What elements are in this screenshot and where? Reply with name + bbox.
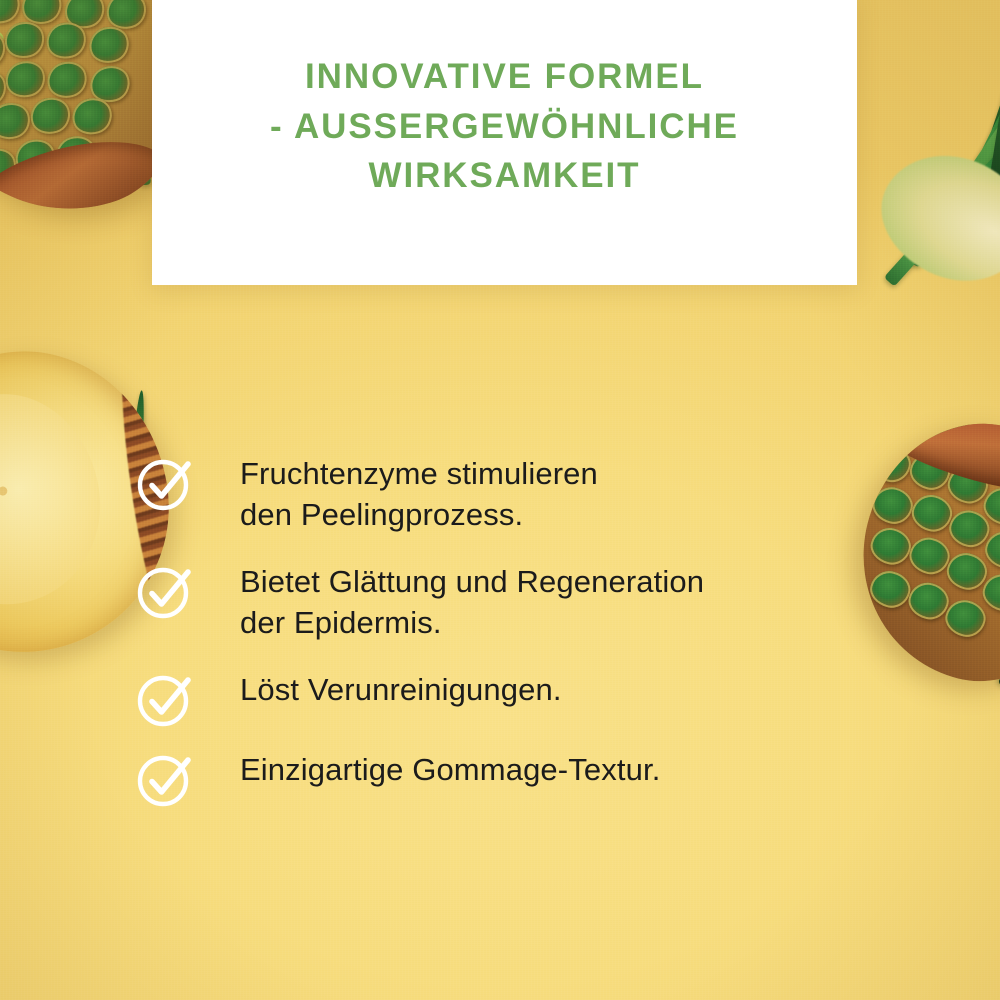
list-item: Fruchtenzyme stimulieren den Peelingproz… bbox=[136, 452, 936, 536]
page-title: INNOVATIVE FORMEL - AUSSERGEWÖHNLICHE WI… bbox=[270, 52, 739, 201]
benefit-text: Fruchtenzyme stimulieren den Peelingproz… bbox=[240, 452, 598, 536]
headline-card: INNOVATIVE FORMEL - AUSSERGEWÖHNLICHE WI… bbox=[152, 0, 857, 285]
list-item: Löst Verunreinigungen. bbox=[136, 668, 936, 728]
benefit-text: Löst Verunreinigungen. bbox=[240, 668, 562, 711]
benefit-text: Einzigartige Gommage-Textur. bbox=[240, 748, 660, 791]
check-circle-icon bbox=[136, 454, 194, 512]
list-item: Einzigartige Gommage-Textur. bbox=[136, 748, 936, 808]
check-circle-icon bbox=[136, 670, 194, 728]
banner-canvas: INNOVATIVE FORMEL - AUSSERGEWÖHNLICHE WI… bbox=[0, 0, 1000, 1000]
benefit-text: Bietet Glättung und Regeneration der Epi… bbox=[240, 560, 704, 644]
check-circle-icon bbox=[136, 562, 194, 620]
benefits-list: Fruchtenzyme stimulieren den Peelingproz… bbox=[136, 452, 936, 828]
list-item: Bietet Glättung und Regeneration der Epi… bbox=[136, 560, 936, 644]
check-circle-icon bbox=[136, 750, 194, 808]
